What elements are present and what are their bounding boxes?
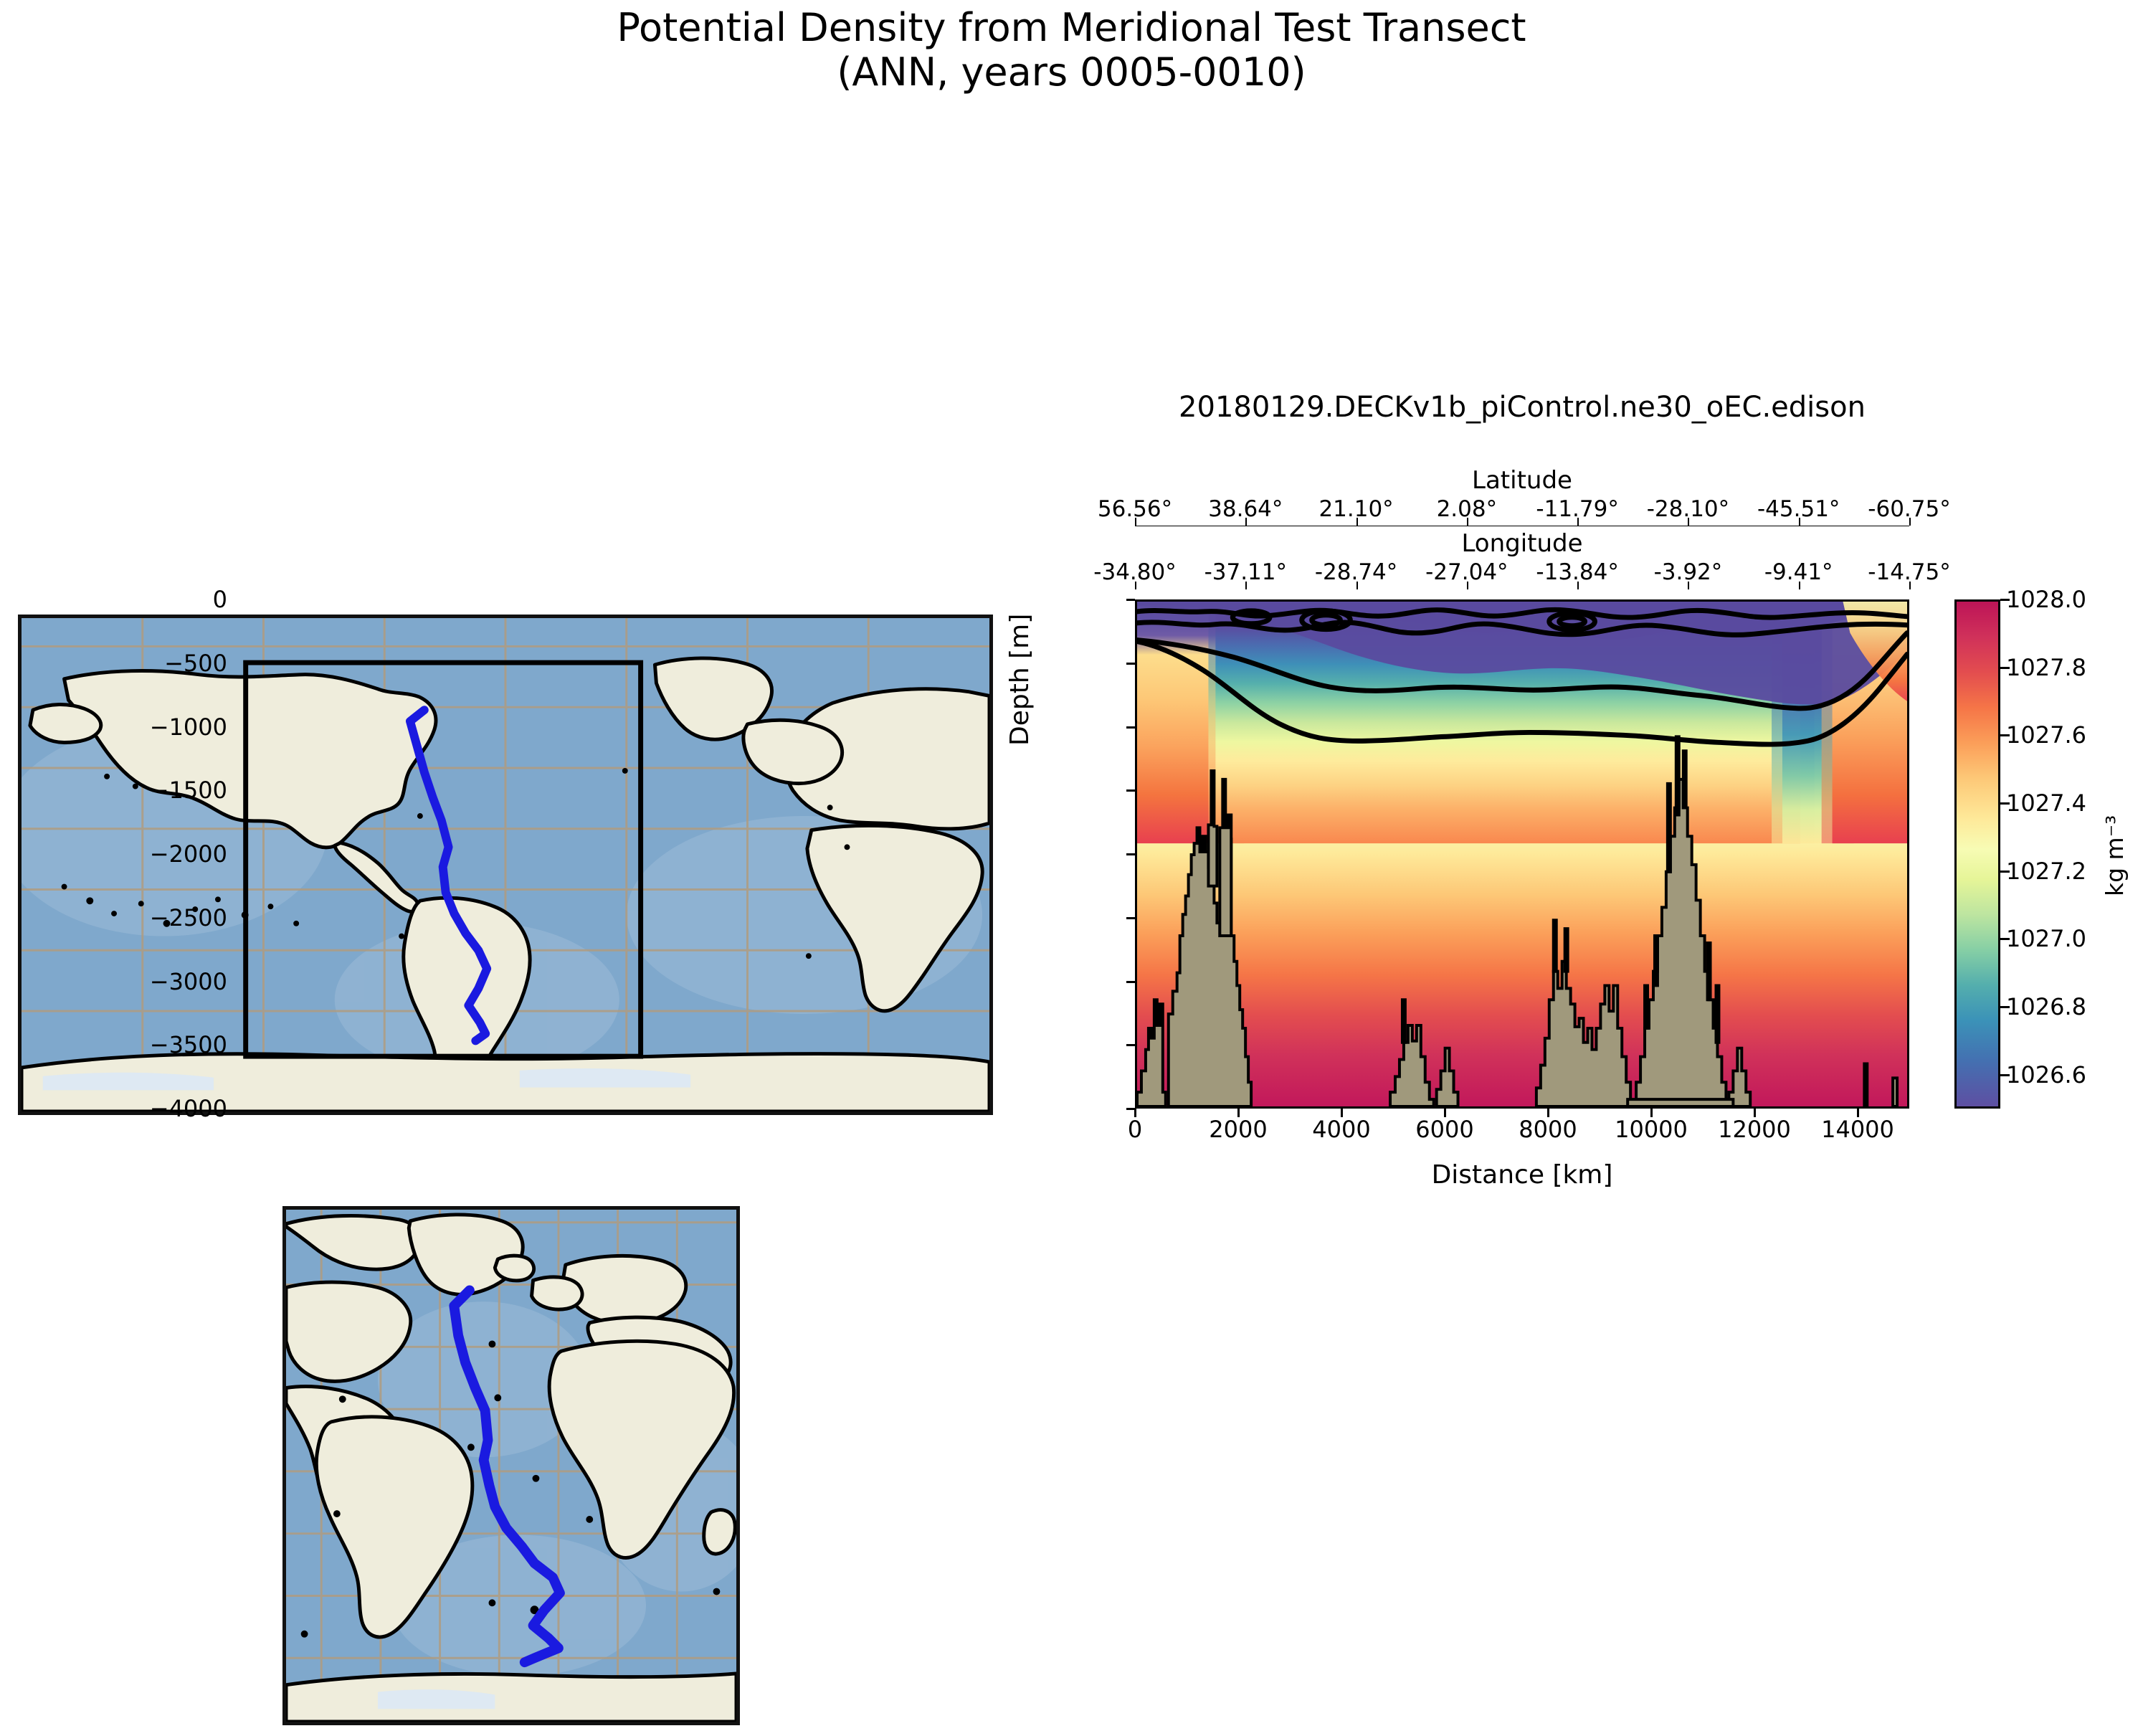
distance-tick-label-5: 10000 [1615, 1116, 1688, 1143]
colorbar-tick-label-0: 1026.6 [2006, 1061, 2086, 1088]
depth-axis-label: Depth [m] [1005, 614, 1035, 746]
distance-tickmark-3 [1444, 1109, 1446, 1117]
depth-tickmark-0 [1126, 599, 1135, 601]
depth-tick-label-2: −1000 [150, 713, 227, 741]
latitude-tickmark-5 [1688, 518, 1689, 526]
depth-tickmark-7 [1126, 1044, 1135, 1046]
latitude-axis-label: Latitude [1135, 466, 1909, 495]
distance-axis-label: Distance [km] [1135, 1160, 1909, 1190]
depth-tick-label-8: −4000 [150, 1095, 227, 1122]
latitude-axis-line [1135, 526, 1909, 526]
depth-tickmark-2 [1126, 726, 1135, 729]
ice-shelf [378, 1689, 495, 1709]
distance-tickmark-2 [1341, 1109, 1343, 1117]
colorbar-tickmark-1 [2000, 1006, 2010, 1008]
figure-canvas: Potential Density from Meridional Test T… [0, 0, 2143, 1736]
cross-section-title: 20180129.DECKv1b_piControl.ne30_oEC.edis… [1135, 391, 1909, 424]
colorbar-tick-label-4: 1027.4 [2006, 789, 2086, 817]
longitude-tickmark-5 [1688, 582, 1689, 589]
latitude-tick-labels: 56.56°38.64°21.10°2.08°-11.79°-28.10°-45… [1135, 496, 1909, 526]
distance-tick-label-0: 0 [1128, 1116, 1142, 1143]
depth-tickmark-6 [1126, 981, 1135, 983]
density-field [1137, 602, 1907, 1106]
distance-tick-label-7: 14000 [1821, 1116, 1894, 1143]
colorbar [1954, 599, 2000, 1109]
longitude-axis-line [1135, 589, 1909, 590]
latitude-tickmark-2 [1356, 518, 1358, 526]
colorbar-unit-label: kg m⁻³ [2101, 815, 2129, 896]
longitude-tickmark-2 [1356, 582, 1358, 589]
depth-tickmark-5 [1126, 917, 1135, 919]
colorbar-tickmark-3 [2000, 871, 2010, 873]
regional-transect-map[interactable] [282, 1206, 740, 1725]
depth-tickmark-4 [1126, 853, 1135, 855]
distance-tick-label-3: 6000 [1415, 1116, 1473, 1143]
colorbar-tickmark-0 [2000, 1074, 2010, 1076]
depth-tick-label-0: 0 [213, 586, 227, 613]
distance-tickmark-1 [1237, 1109, 1240, 1117]
distance-tickmark-4 [1547, 1109, 1549, 1117]
distance-tick-label-6: 12000 [1718, 1116, 1791, 1143]
longitude-axis-label: Longitude [1135, 529, 1909, 558]
cross-section-svg [1137, 602, 1907, 1106]
colorbar-tickmark-5 [2000, 734, 2010, 736]
colorbar-tick-label-6: 1027.8 [2006, 654, 2086, 681]
longitude-tickmark-6 [1799, 582, 1800, 589]
longitude-tickmark-3 [1467, 582, 1468, 589]
depth-tickmark-1 [1126, 663, 1135, 665]
distance-tickmark-7 [1857, 1109, 1859, 1117]
longitude-tickmark-4 [1577, 582, 1579, 589]
colorbar-tickmark-6 [2000, 667, 2010, 669]
colorbar-tickmark-4 [2000, 802, 2010, 805]
depth-tickmark-3 [1126, 789, 1135, 792]
suptitle-line-2: (ANN, years 0005-0010) [0, 50, 2143, 95]
depth-tick-label-7: −3500 [150, 1031, 227, 1058]
colorbar-tick-label-5: 1027.6 [2006, 721, 2086, 749]
longitude-tick-labels: -34.80°-37.11°-28.74°-27.04°-13.84°-3.92… [1135, 559, 1909, 589]
colorbar-tick-label-2: 1027.0 [2006, 925, 2086, 952]
latitude-tickmark-0 [1135, 518, 1136, 526]
density-cross-section-plot [1135, 599, 1909, 1109]
latitude-tickmark-1 [1245, 518, 1247, 526]
latitude-tickmark-3 [1467, 518, 1468, 526]
depth-tick-label-1: −500 [164, 650, 227, 677]
regional-map-svg [286, 1210, 736, 1722]
colorbar-tickmark-7 [2000, 599, 2010, 601]
distance-tick-label-2: 4000 [1312, 1116, 1370, 1143]
colorbar-gradient [1957, 602, 1998, 1106]
latitude-tickmark-7 [1909, 518, 1911, 526]
longitude-tickmark-0 [1135, 582, 1136, 589]
distance-tickmark-5 [1650, 1109, 1653, 1117]
suptitle-line-1: Potential Density from Meridional Test T… [617, 5, 1526, 50]
depth-tick-label-3: −1500 [150, 777, 227, 804]
distance-tick-label-4: 8000 [1519, 1116, 1577, 1143]
longitude-tickmark-7 [1909, 582, 1911, 589]
figure-suptitle: Potential Density from Meridional Test T… [0, 6, 2143, 94]
depth-tick-label-4: −2000 [150, 840, 227, 868]
distance-tickmark-6 [1754, 1109, 1756, 1117]
depth-tick-label-5: −2500 [150, 904, 227, 931]
colorbar-tick-label-7: 1028.0 [2006, 586, 2086, 613]
colorbar-tickmark-2 [2000, 938, 2010, 940]
latitude-tickmark-4 [1577, 518, 1579, 526]
latitude-tickmark-6 [1799, 518, 1800, 526]
longitude-tickmark-1 [1245, 582, 1247, 589]
colorbar-tick-label-3: 1027.2 [2006, 858, 2086, 885]
depth-tick-label-6: −3000 [150, 968, 227, 995]
distance-tickmark-0 [1134, 1109, 1136, 1117]
distance-tick-label-1: 2000 [1209, 1116, 1267, 1143]
colorbar-tick-label-1: 1026.8 [2006, 993, 2086, 1020]
